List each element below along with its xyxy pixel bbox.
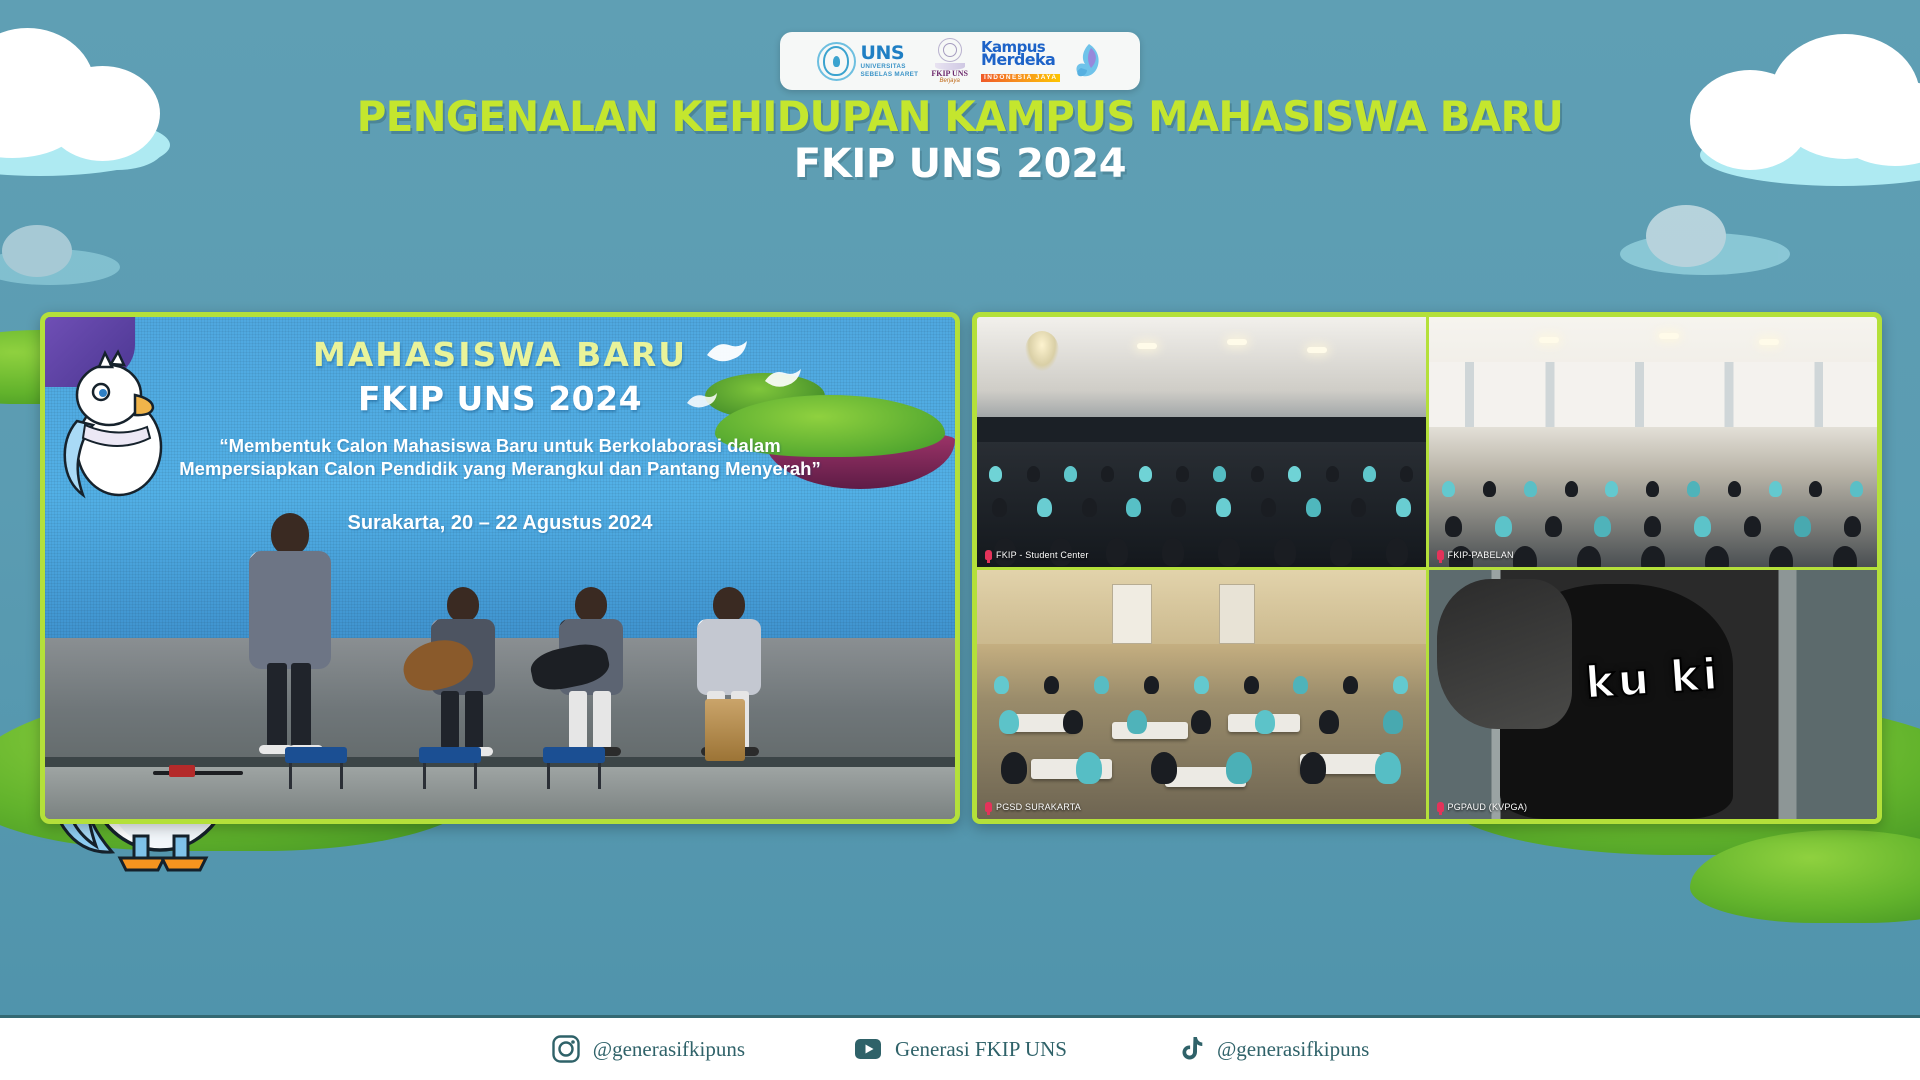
screen-title-2: FKIP UNS 2024 <box>45 379 955 418</box>
cell1-crowd-row-2 <box>977 477 1426 517</box>
mic-icon-2 <box>1437 550 1444 560</box>
mic-icon-3 <box>985 802 992 812</box>
tiktok-handle: @generasifkipuns <box>1217 1037 1369 1062</box>
cell3-door <box>1112 584 1152 644</box>
video-cell-2-label: FKIP-PABELAN <box>1437 550 1514 560</box>
fkip-logo-tagline: Berjaya <box>931 78 968 84</box>
main-video-panel[interactable]: MAHASISWA BARU FKIP UNS 2024 “Membentuk … <box>40 312 960 824</box>
stage-led-screen: MAHASISWA BARU FKIP UNS 2024 “Membentuk … <box>45 317 955 638</box>
km-line3: INDONESIA JAYA <box>981 74 1060 82</box>
screen-title-1: MAHASISWA BARU <box>45 335 955 374</box>
stage-chair-3 <box>543 747 605 763</box>
screen-quote: “Membentuk Calon Mahasiswa Baru untuk Be… <box>45 435 955 480</box>
ceiling-light-1 <box>1137 343 1157 349</box>
ceiling-light-3 <box>1307 347 1327 353</box>
bird-logo-icon <box>1073 42 1103 80</box>
km-line2: Merdeka <box>981 52 1060 67</box>
cell3-crowd-row-2 <box>977 689 1426 734</box>
video-cell-1-label: FKIP - Student Center <box>985 550 1089 560</box>
video-cell-2[interactable]: FKIP-PABELAN <box>1429 317 1878 567</box>
uns-logo-line2: SEBELAS MARET <box>861 72 919 78</box>
cell2-ceiling-light-3 <box>1759 339 1779 345</box>
uns-logo: UNS UNIVERSITAS SEBELAS MARET <box>817 42 919 81</box>
kampus-merdeka-logo: Kampus Merdeka INDONESIA JAYA <box>981 40 1060 83</box>
cell4-overlay-text: ku ki <box>1584 649 1722 709</box>
cell-1-label-text: FKIP - Student Center <box>996 550 1089 560</box>
video-cell-4-label: PGPAUD (KVPGA) <box>1437 802 1528 812</box>
cell2-ceiling-light-2 <box>1659 333 1679 339</box>
cell2-ceiling-light-1 <box>1539 337 1559 343</box>
fkip-seal-icon <box>938 38 962 62</box>
youtube-icon <box>853 1034 883 1064</box>
uns-logo-name: UNS <box>861 42 905 64</box>
logo-bar: UNS UNIVERSITAS SEBELAS MARET FKIP UNS B… <box>780 32 1140 90</box>
uns-seal-icon <box>817 42 856 81</box>
youtube-channel: Generasi FKIP UNS <box>895 1037 1067 1062</box>
cell3-back-wall <box>977 570 1426 645</box>
cell-4-label-text: PGPAUD (KVPGA) <box>1448 802 1528 812</box>
cell3-crowd-row-1 <box>977 654 1426 694</box>
page-title: PENGENALAN KEHIDUPAN KAMPUS MAHASISWA BA… <box>38 92 1881 141</box>
instagram-handle: @generasifkipuns <box>593 1037 745 1062</box>
cell1-stage-band <box>977 417 1426 442</box>
page-subtitle: FKIP UNS 2024 <box>0 141 1920 187</box>
footer-divider <box>0 1015 1920 1018</box>
cell4-hand <box>1437 579 1572 729</box>
video-cell-3[interactable]: PGSD SURAKARTA <box>977 570 1426 820</box>
cell-2-label-text: FKIP-PABELAN <box>1448 550 1514 560</box>
cell-3-label-text: PGSD SURAKARTA <box>996 802 1081 812</box>
cajon-drum <box>705 699 745 761</box>
video-cell-1[interactable]: FKIP - Student Center <box>977 317 1426 567</box>
social-tiktok[interactable]: @generasifkipuns <box>1175 1034 1369 1064</box>
performer-singer <box>235 513 331 763</box>
cell3-door-2 <box>1219 584 1255 644</box>
video-cell-3-label: PGSD SURAKARTA <box>985 802 1081 812</box>
social-instagram[interactable]: @generasifkipuns <box>551 1034 745 1064</box>
screen-date: Surakarta, 20 – 22 Agustus 2024 <box>45 512 955 535</box>
tiktok-icon <box>1175 1034 1205 1064</box>
uns-logo-line1: UNIVERSITAS <box>861 64 919 70</box>
mic-icon-1 <box>985 550 992 560</box>
stage-cable <box>153 771 243 775</box>
stage-chair-2 <box>419 747 481 763</box>
mic-icon-4 <box>1437 802 1444 812</box>
instagram-icon <box>551 1034 581 1064</box>
video-grid-panel[interactable]: FKIP - Student Center <box>972 312 1882 824</box>
social-youtube[interactable]: Generasi FKIP UNS <box>853 1034 1067 1064</box>
stage-pedal <box>169 765 195 777</box>
cell2-crowd-row-3 <box>1429 527 1878 567</box>
cell2-window-wall <box>1429 362 1878 427</box>
fkip-logo: FKIP UNS Berjaya <box>931 38 968 84</box>
cell3-crowd-row-3 <box>977 729 1426 784</box>
footer-social-bar: @generasifkipuns Generasi FKIP UNS @gene… <box>0 1018 1920 1080</box>
stage-chair-1 <box>285 747 347 763</box>
ceiling-light-2 <box>1227 339 1247 345</box>
fkip-logo-name: FKIP UNS <box>931 70 968 78</box>
chandelier-icon <box>1025 331 1059 371</box>
presentation-slide: UNS UNIVERSITAS SEBELAS MARET FKIP UNS B… <box>0 0 1920 1080</box>
video-cell-4[interactable]: ku ki PGPAUD (KVPGA) <box>1429 570 1878 820</box>
